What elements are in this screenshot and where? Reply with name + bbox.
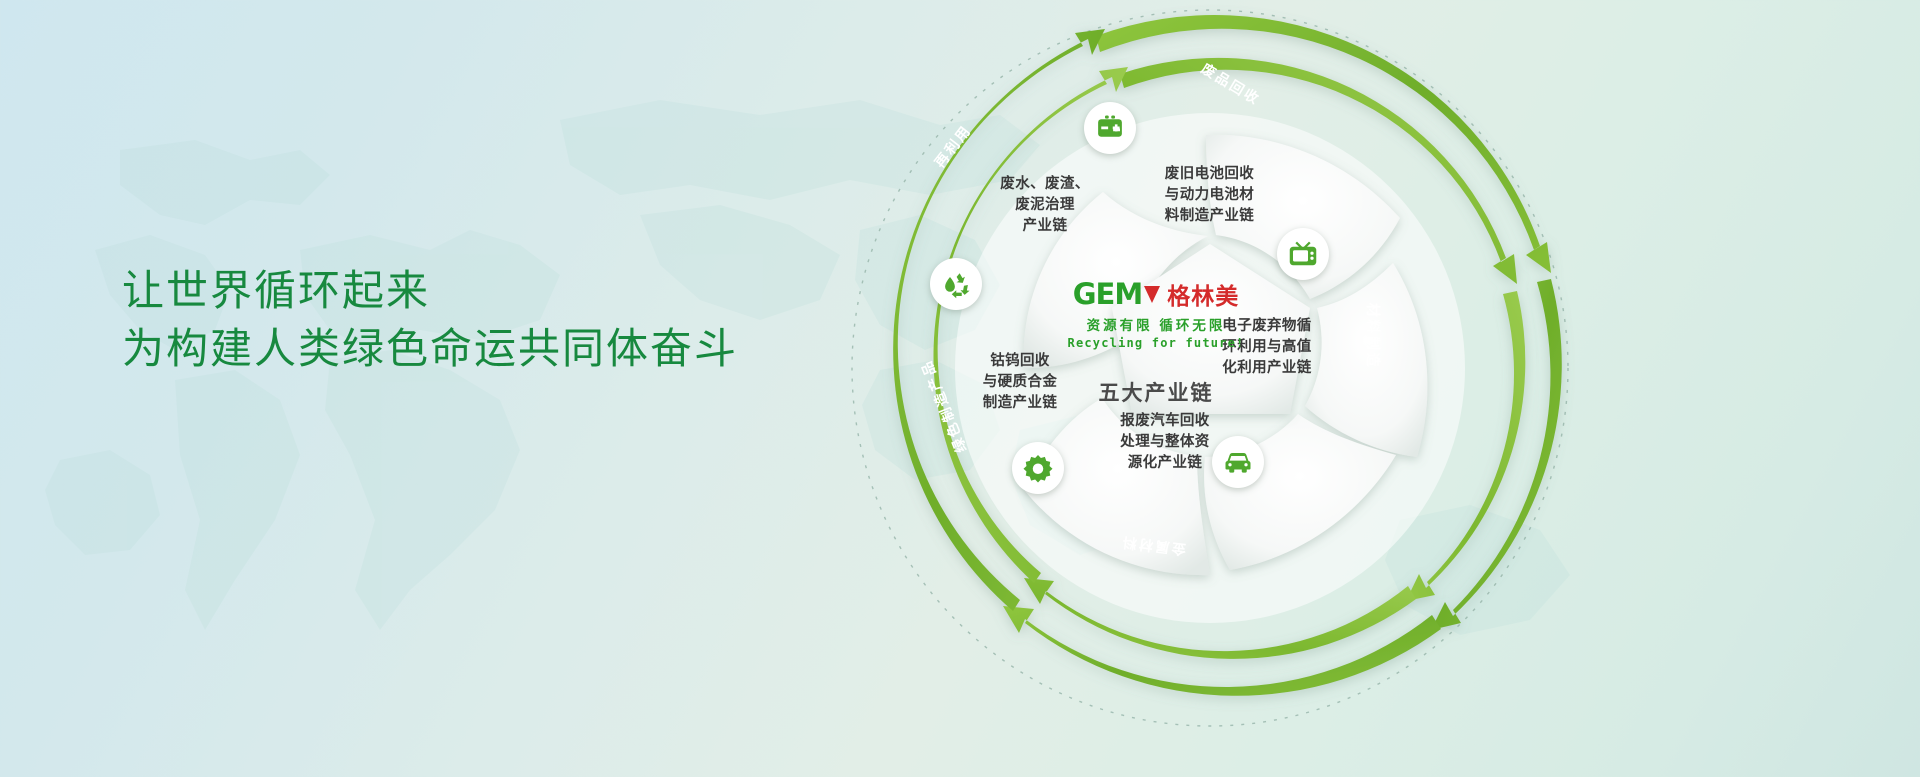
gem-triangle-icon	[1144, 286, 1160, 303]
recycle-water-node[interactable]	[930, 258, 982, 310]
car-icon	[1223, 447, 1253, 477]
gear-node[interactable]	[1012, 442, 1064, 494]
headline-block: 让世界循环起来 为构建人类绿色命运共同体奋斗	[122, 262, 738, 378]
recycle-water-icon	[941, 269, 971, 299]
circular-economy-diagram: 废水、废渣、 废泥治理 产业链 废旧电池回收 与动力电池材 料制造产业链 电子废…	[820, 0, 1600, 776]
car-node[interactable]	[1212, 436, 1264, 488]
gem-logo: GEM 格林美	[1056, 277, 1256, 311]
television-icon	[1288, 239, 1318, 269]
headline-line-1: 让世界循环起来	[122, 262, 738, 320]
gear-icon	[1023, 453, 1053, 483]
battery-icon	[1095, 113, 1125, 143]
gem-subtitle: 五大产业链	[1056, 377, 1256, 407]
battery-node[interactable]	[1084, 102, 1136, 154]
headline-line-2: 为构建人类绿色命运共同体奋斗	[122, 320, 738, 378]
gem-slogan-en: Recycling for future!	[1056, 336, 1256, 350]
center-brand-block: GEM 格林美 资源有限 循环无限 Recycling for future! …	[1056, 277, 1256, 407]
gem-slogan-cn: 资源有限 循环无限	[1056, 314, 1256, 334]
gem-brand-cn: 格林美	[1167, 277, 1239, 311]
television-node[interactable]	[1277, 228, 1329, 280]
gem-wordmark: GEM	[1073, 277, 1142, 311]
